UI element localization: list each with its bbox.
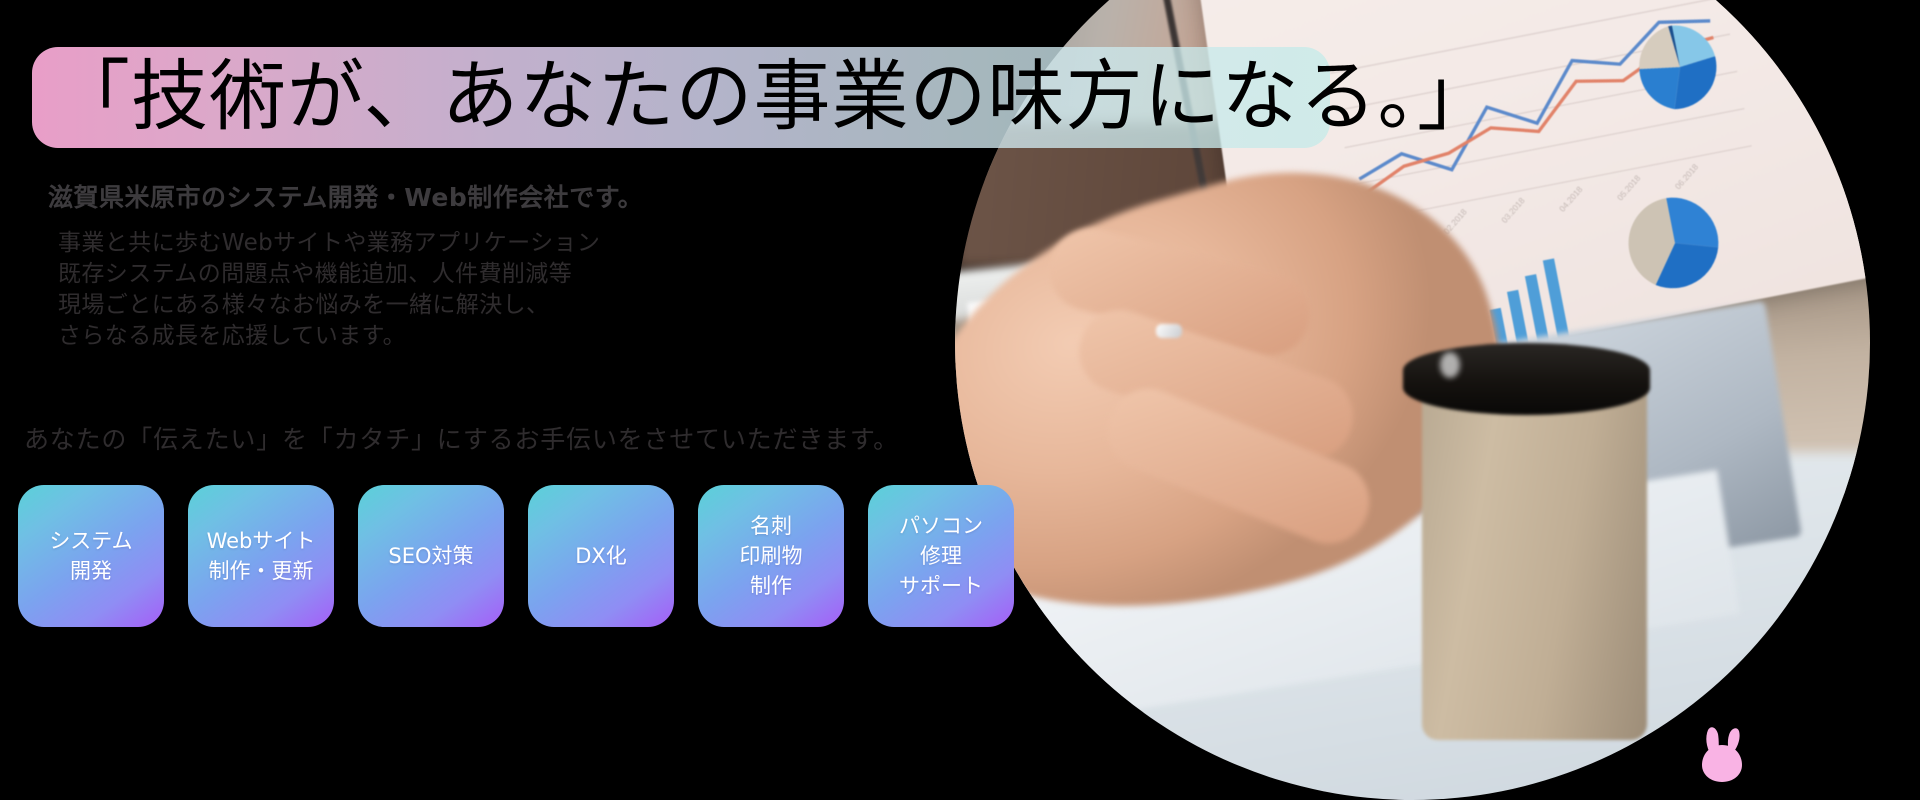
service-card-seo[interactable]: SEO対策 [358, 485, 504, 627]
page-title: 「技術が、あなたの事業の味方になる。」 [53, 47, 1553, 148]
service-card-label: パソコン [899, 511, 983, 541]
hero-lead-line: さらなる成長を応援しています。 [58, 321, 600, 352]
hero-subtitle: 滋賀県米原市のシステム開発・Web制作会社です。 [48, 178, 643, 214]
service-card-label: 制作・更新 [207, 556, 316, 586]
hero-section: Project statistics 01.2018 02.2018 03.20… [0, 0, 1920, 800]
hero-lead-line: 既存システムの問題点や機能追加、人件費削減等 [58, 259, 600, 290]
service-card-label: システム [49, 526, 132, 556]
service-card-label: サポート [899, 571, 983, 601]
service-card-label: DX化 [575, 541, 627, 571]
service-card-label: 印刷物 [740, 541, 803, 571]
photo-ring [1156, 324, 1182, 338]
photo-coffee-lid [1403, 343, 1650, 415]
service-card-dx[interactable]: DX化 [528, 485, 674, 627]
service-card-label: SEO対策 [388, 541, 473, 571]
service-card-label: 開発 [49, 556, 132, 586]
hero-lead-line: 現場ごとにある様々なお悩みを一緒に解決し、 [58, 290, 600, 321]
service-card-list: システム 開発 Webサイト 制作・更新 SEO対策 DX化 名刺 印刷物 [18, 485, 1014, 627]
service-card-website[interactable]: Webサイト 制作・更新 [188, 485, 334, 627]
svg-text:04.2018: 04.2018 [1557, 184, 1585, 214]
hero-lead: 事業と共に歩むWebサイトや業務アプリケーション 既存システムの問題点や機能追加… [58, 228, 600, 352]
service-card-system-development[interactable]: システム 開発 [18, 485, 164, 627]
hero-tagline: あなたの「伝えたい」を「カタチ」にするお手伝いをさせていただきます。 [24, 420, 899, 456]
photo-coffee-cup [1422, 370, 1647, 740]
svg-text:03.2018: 03.2018 [1499, 195, 1527, 225]
service-card-printing[interactable]: 名刺 印刷物 制作 [698, 485, 844, 627]
screen-pie-chart-1 [1623, 5, 1738, 129]
service-card-pc-repair[interactable]: パソコン 修理 サポート [868, 485, 1014, 627]
service-card-label: 名刺 [740, 511, 803, 541]
service-card-label: 制作 [740, 571, 803, 601]
screen-pie-chart-2 [1613, 178, 1736, 308]
service-card-label: Webサイト [207, 526, 316, 556]
photo-coffee-highlight [1440, 352, 1460, 378]
hero-lead-line: 事業と共に歩むWebサイトや業務アプリケーション [58, 228, 600, 259]
bunny-icon [1697, 725, 1747, 783]
service-card-label: 修理 [899, 541, 983, 571]
